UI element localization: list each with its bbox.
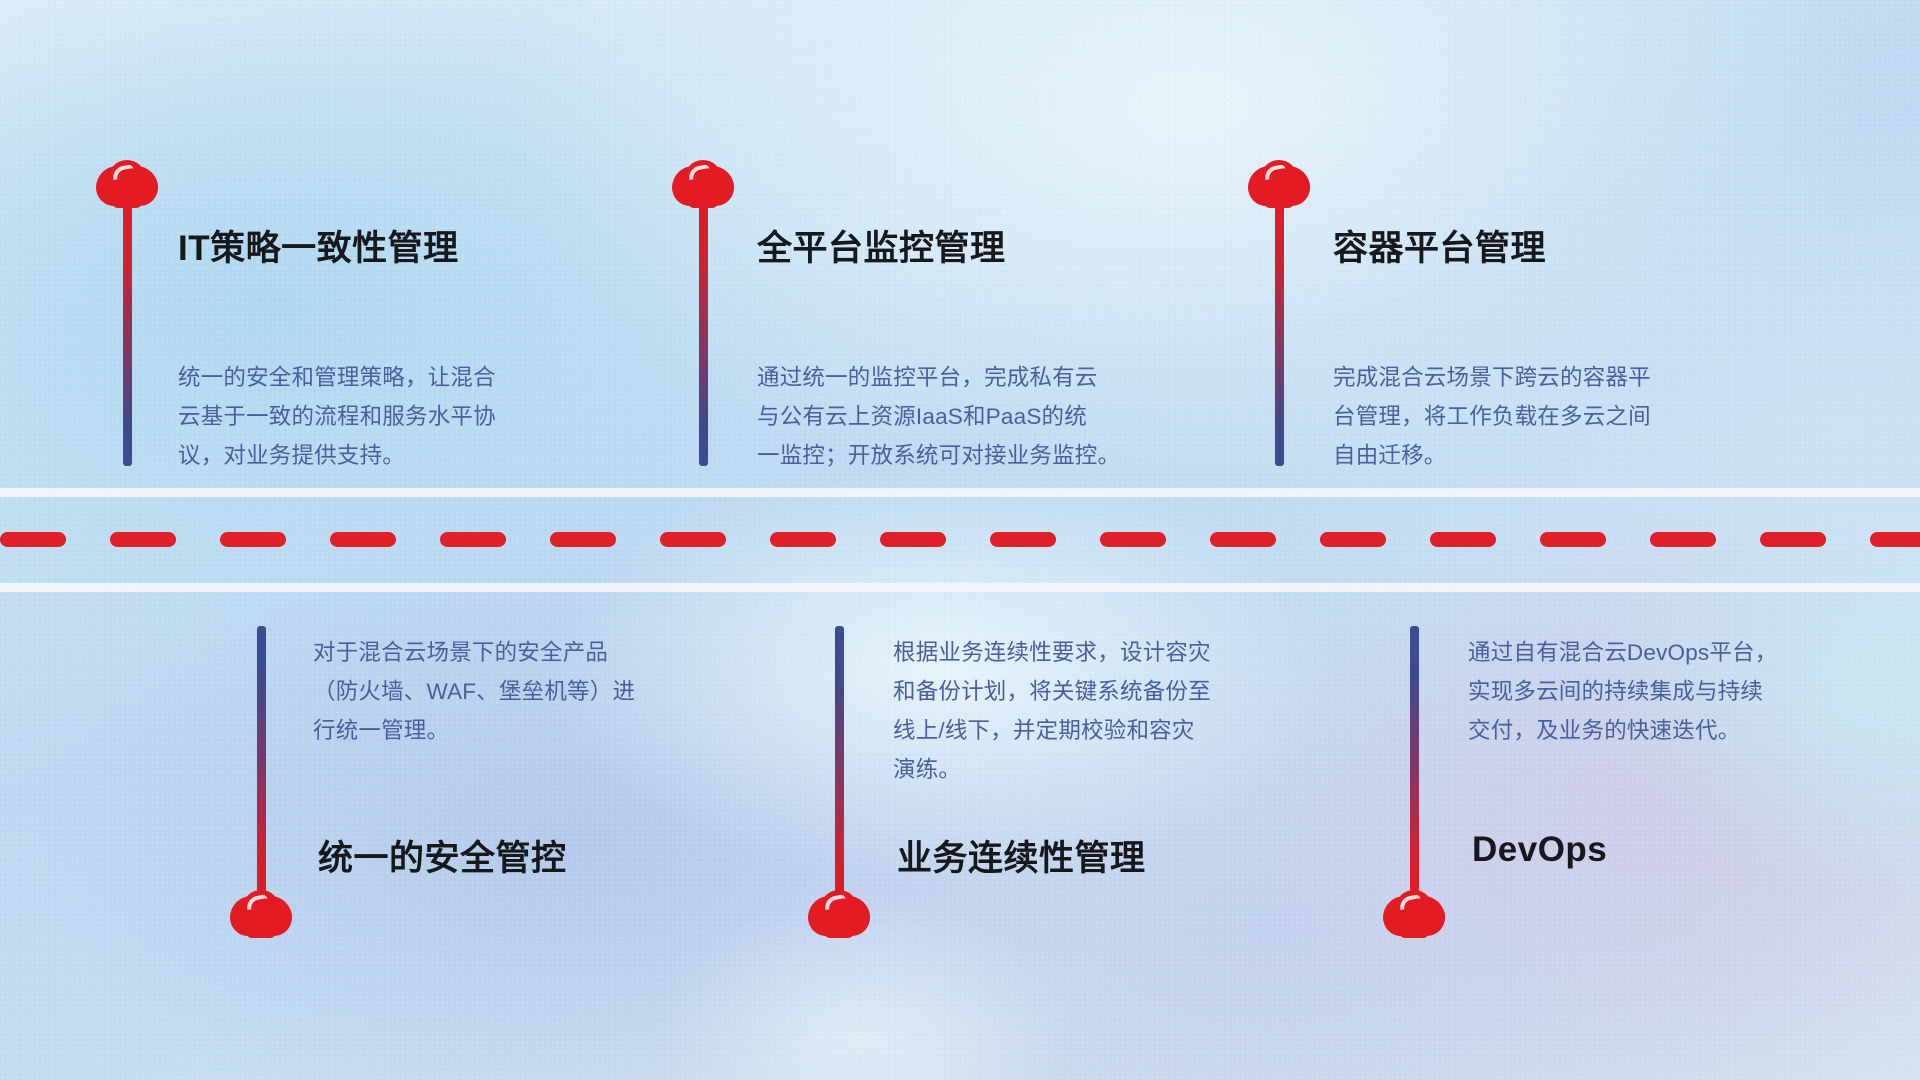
desc-line: 通过自有混合云DevOps平台， <box>1468 633 1898 672</box>
card-description: 通过统一的监控平台，完成私有云 与公有云上资源IaaS和PaaS的统 一监控；开… <box>757 358 1207 475</box>
desc-line: 议，对业务提供支持。 <box>178 436 618 475</box>
divider-dash <box>1540 532 1606 547</box>
divider-dash <box>550 532 616 547</box>
desc-line: 行统一管理。 <box>313 711 743 750</box>
desc-line: 统一的安全和管理策略，让混合 <box>178 358 618 397</box>
desc-line: 云基于一致的流程和服务水平协 <box>178 397 618 436</box>
stem-connector <box>699 200 708 466</box>
desc-line: 线上/线下，并定期校验和容灾 <box>893 711 1323 750</box>
card-description: 通过自有混合云DevOps平台， 实现多云间的持续集成与持续 交付，及业务的快速… <box>1468 633 1898 750</box>
stem-connector <box>1410 626 1419 904</box>
desc-line: 根据业务连续性要求，设计容灾 <box>893 633 1323 672</box>
divider-dash <box>1870 532 1920 547</box>
card-title: DevOps <box>1472 830 1607 870</box>
desc-line: 通过统一的监控平台，完成私有云 <box>757 358 1207 397</box>
divider-dash <box>990 532 1056 547</box>
cloud-icon <box>230 890 292 936</box>
desc-line: 台管理，将工作负载在多云之间 <box>1333 397 1773 436</box>
stem-connector <box>257 626 266 904</box>
card-title: 全平台监控管理 <box>757 220 1006 271</box>
divider-dash <box>440 532 506 547</box>
card-title: 业务连续性管理 <box>897 830 1146 881</box>
divider-band-top <box>0 488 1920 497</box>
cloud-icon <box>808 890 870 936</box>
desc-line: 演练。 <box>893 750 1323 789</box>
stem-connector <box>835 626 844 904</box>
card-description: 根据业务连续性要求，设计容灾 和备份计划，将关键系统备份至 线上/线下，并定期校… <box>893 633 1323 789</box>
desc-line: 实现多云间的持续集成与持续 <box>1468 672 1898 711</box>
card-title: IT策略一致性管理 <box>178 220 459 271</box>
divider-dash <box>220 532 286 547</box>
desc-line: 与公有云上资源IaaS和PaaS的统 <box>757 397 1207 436</box>
card-description: 完成混合云场景下跨云的容器平 台管理，将工作负载在多云之间 自由迁移。 <box>1333 358 1773 475</box>
card-description: 统一的安全和管理策略，让混合 云基于一致的流程和服务水平协 议，对业务提供支持。 <box>178 358 618 475</box>
desc-line: 和备份计划，将关键系统备份至 <box>893 672 1323 711</box>
divider-dash <box>1210 532 1276 547</box>
cloud-icon <box>1383 890 1445 936</box>
desc-line: 完成混合云场景下跨云的容器平 <box>1333 358 1773 397</box>
stem-connector <box>123 200 132 466</box>
desc-line: 交付，及业务的快速迭代。 <box>1468 711 1898 750</box>
divider-dash <box>0 532 66 547</box>
divider-dash <box>770 532 836 547</box>
divider-dashed-line <box>0 532 1920 547</box>
divider <box>0 485 1920 595</box>
divider-dash <box>1760 532 1826 547</box>
desc-line: 自由迁移。 <box>1333 436 1773 475</box>
divider-dash <box>880 532 946 547</box>
stem-connector <box>1275 200 1284 466</box>
divider-dash <box>1430 532 1496 547</box>
card-description: 对于混合云场景下的安全产品 （防火墙、WAF、堡垒机等）进 行统一管理。 <box>313 633 743 750</box>
card-title: 统一的安全管控 <box>318 830 567 881</box>
desc-line: （防火墙、WAF、堡垒机等）进 <box>313 672 743 711</box>
divider-dash <box>660 532 726 547</box>
divider-dash <box>1650 532 1716 547</box>
divider-dash <box>1320 532 1386 547</box>
divider-dash <box>330 532 396 547</box>
divider-dash <box>1100 532 1166 547</box>
desc-line: 对于混合云场景下的安全产品 <box>313 633 743 672</box>
divider-dash <box>110 532 176 547</box>
card-title: 容器平台管理 <box>1333 220 1546 271</box>
desc-line: 一监控；开放系统可对接业务监控。 <box>757 436 1207 475</box>
divider-band-bottom <box>0 583 1920 592</box>
